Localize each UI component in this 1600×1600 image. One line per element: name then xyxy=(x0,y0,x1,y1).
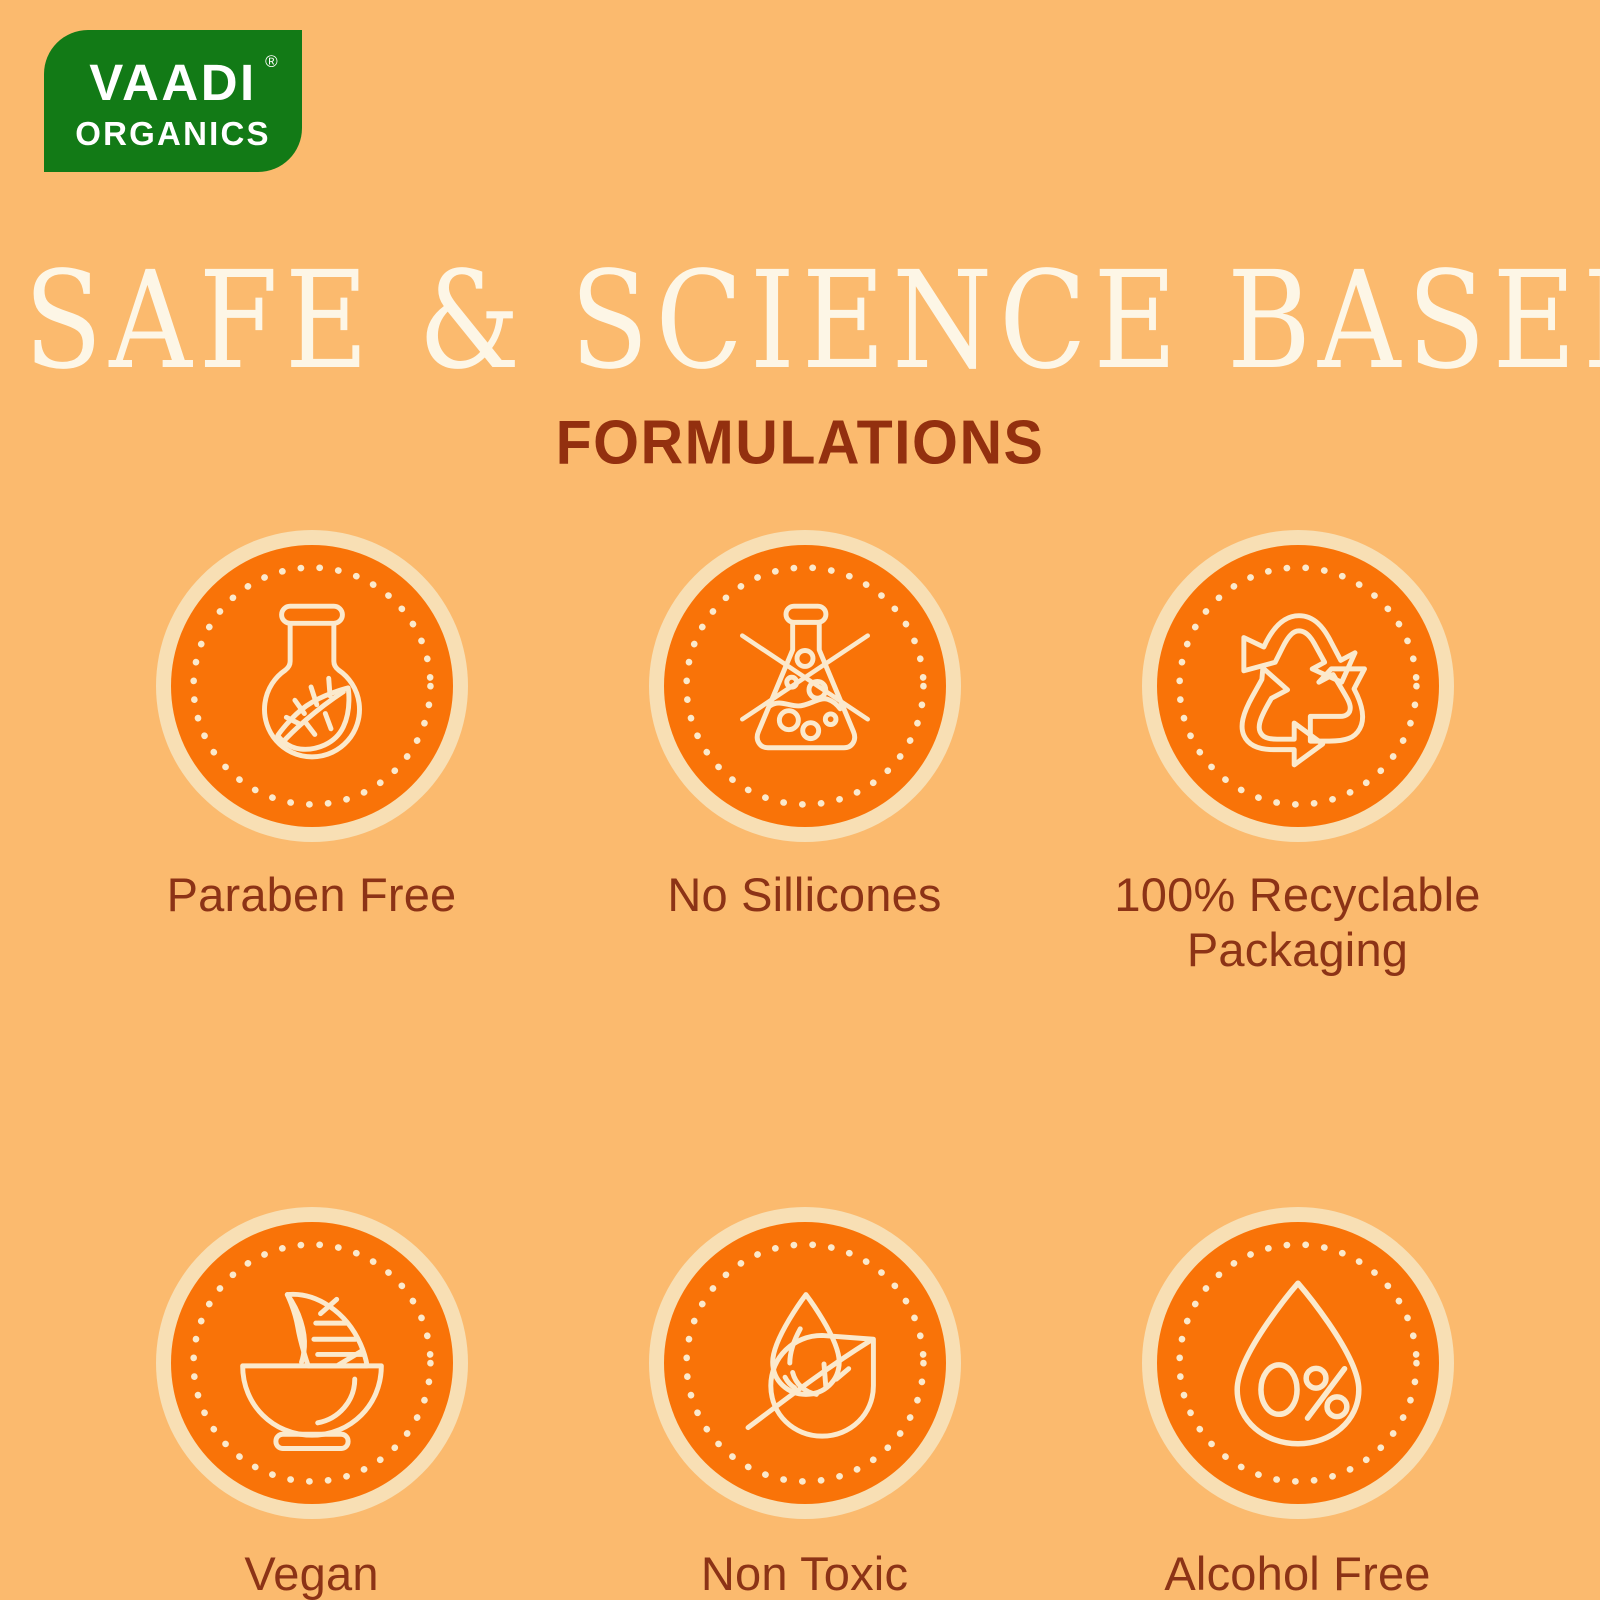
feature-item-vegan: Vegan xyxy=(65,1207,558,1600)
badge-ring xyxy=(649,1207,961,1519)
badge-ring xyxy=(156,530,468,842)
badge-ring xyxy=(1142,530,1454,842)
brand-logo: VAADI ® ORGANICS xyxy=(44,30,302,172)
badge-ring xyxy=(156,1207,468,1519)
droplet-zero-percent-icon xyxy=(1203,1268,1393,1458)
feature-item-non-toxic: Non Toxic xyxy=(558,1207,1051,1600)
badge-disc xyxy=(171,1222,453,1504)
brand-name-secondary: ORGANICS xyxy=(75,117,270,150)
feature-row-top: Paraben Free xyxy=(65,530,1545,977)
registered-trademark-icon: ® xyxy=(265,53,278,70)
badge-ring xyxy=(649,530,961,842)
feature-label: 100% Recyclable Packaging xyxy=(1114,868,1480,977)
badge-disc xyxy=(664,545,946,827)
flask-leaf-icon xyxy=(217,591,407,781)
bowl-leaf-icon xyxy=(217,1268,407,1458)
recycle-icon xyxy=(1203,591,1393,781)
badge-disc xyxy=(664,1222,946,1504)
poster-canvas: VAADI ® ORGANICS SAFE & SCIENCE BASED FO… xyxy=(0,0,1600,1600)
badge-disc xyxy=(171,545,453,827)
brand-name-primary: VAADI ® xyxy=(89,57,256,108)
feature-item-no-sillicones: No Sillicones xyxy=(558,530,1051,977)
badge-disc xyxy=(1157,545,1439,827)
feature-row-bottom: Vegan xyxy=(65,1207,1545,1600)
feature-label: Paraben Free xyxy=(167,868,457,923)
feature-item-paraben-free: Paraben Free xyxy=(65,530,558,977)
droplet-leaf-icon xyxy=(710,1268,900,1458)
feature-badge-grid: Paraben Free xyxy=(65,530,1545,1600)
badge-disc xyxy=(1157,1222,1439,1504)
feature-item-alcohol-free: Alcohol Free xyxy=(1051,1207,1544,1600)
flask-crossed-out-icon xyxy=(710,591,900,781)
feature-label: Vegan xyxy=(244,1547,378,1600)
feature-label: No Sillicones xyxy=(667,868,941,923)
page-subtitle: FORMULATIONS xyxy=(0,412,1600,474)
badge-ring xyxy=(1142,1207,1454,1519)
feature-label: Non Toxic xyxy=(701,1547,908,1600)
feature-label: Alcohol Free xyxy=(1164,1547,1430,1600)
page-title: SAFE & SCIENCE BASED xyxy=(24,253,1576,388)
brand-name-primary-text: VAADI xyxy=(89,54,256,111)
feature-item-recyclable-packaging: 100% Recyclable Packaging xyxy=(1051,530,1544,977)
